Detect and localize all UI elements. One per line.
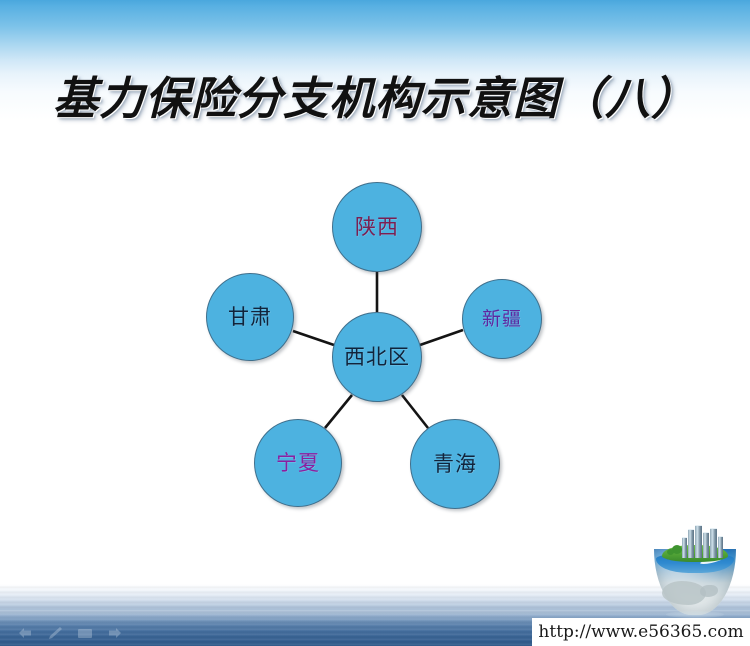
org-chart-diagram: 陕西 甘肃 新疆 西北区 宁夏 青海 (0, 0, 750, 646)
edge-center-gansu (293, 331, 334, 345)
node-gansu-label: 甘肃 (228, 307, 272, 328)
node-xinjiang-label: 新疆 (482, 310, 522, 329)
node-center-label: 西北区 (344, 347, 410, 368)
globe-reflection (666, 611, 724, 618)
building-icon-6 (718, 536, 723, 558)
rectangle-icon (76, 626, 94, 640)
presentation-slide: 基力保险分支机构示意图（八） 陕西 甘肃 新疆 西北区 宁夏 青海 (0, 0, 750, 646)
slide-menu-button[interactable] (76, 626, 94, 640)
node-xinjiang[interactable]: 新疆 (462, 279, 542, 359)
node-qinghai-label: 青海 (433, 454, 477, 475)
earth-city-globe-logo (648, 523, 742, 617)
previous-slide-button[interactable] (16, 626, 34, 640)
node-center-northwest-region[interactable]: 西北区 (332, 312, 422, 402)
edge-center-qinghai (402, 395, 428, 428)
arrow-left-icon (16, 626, 34, 640)
node-qinghai[interactable]: 青海 (410, 419, 500, 509)
node-ningxia[interactable]: 宁夏 (254, 419, 342, 507)
next-slide-button[interactable] (106, 626, 124, 640)
pen-tool-button[interactable] (46, 626, 64, 640)
slideshow-navigation-bar[interactable] (16, 626, 124, 640)
edge-center-xinjiang (420, 330, 463, 345)
node-gansu[interactable]: 甘肃 (206, 273, 294, 361)
node-ningxia-label: 宁夏 (276, 453, 320, 474)
edge-center-ningxia (325, 395, 352, 428)
building-icon-2 (695, 525, 702, 558)
building-icon-1 (688, 529, 694, 558)
building-icon-4 (710, 528, 717, 558)
tree-icon-2 (667, 549, 674, 555)
pen-icon (46, 626, 64, 640)
arrow-right-icon (106, 626, 124, 640)
building-icon-3 (703, 532, 709, 558)
node-shaanxi-label: 陕西 (355, 217, 399, 238)
watermark-url-box: http://www.e56365.com (532, 618, 750, 646)
watermark-url-text: http://www.e56365.com (538, 622, 743, 642)
building-icon-5 (682, 537, 687, 558)
node-shaanxi[interactable]: 陕西 (332, 182, 422, 272)
